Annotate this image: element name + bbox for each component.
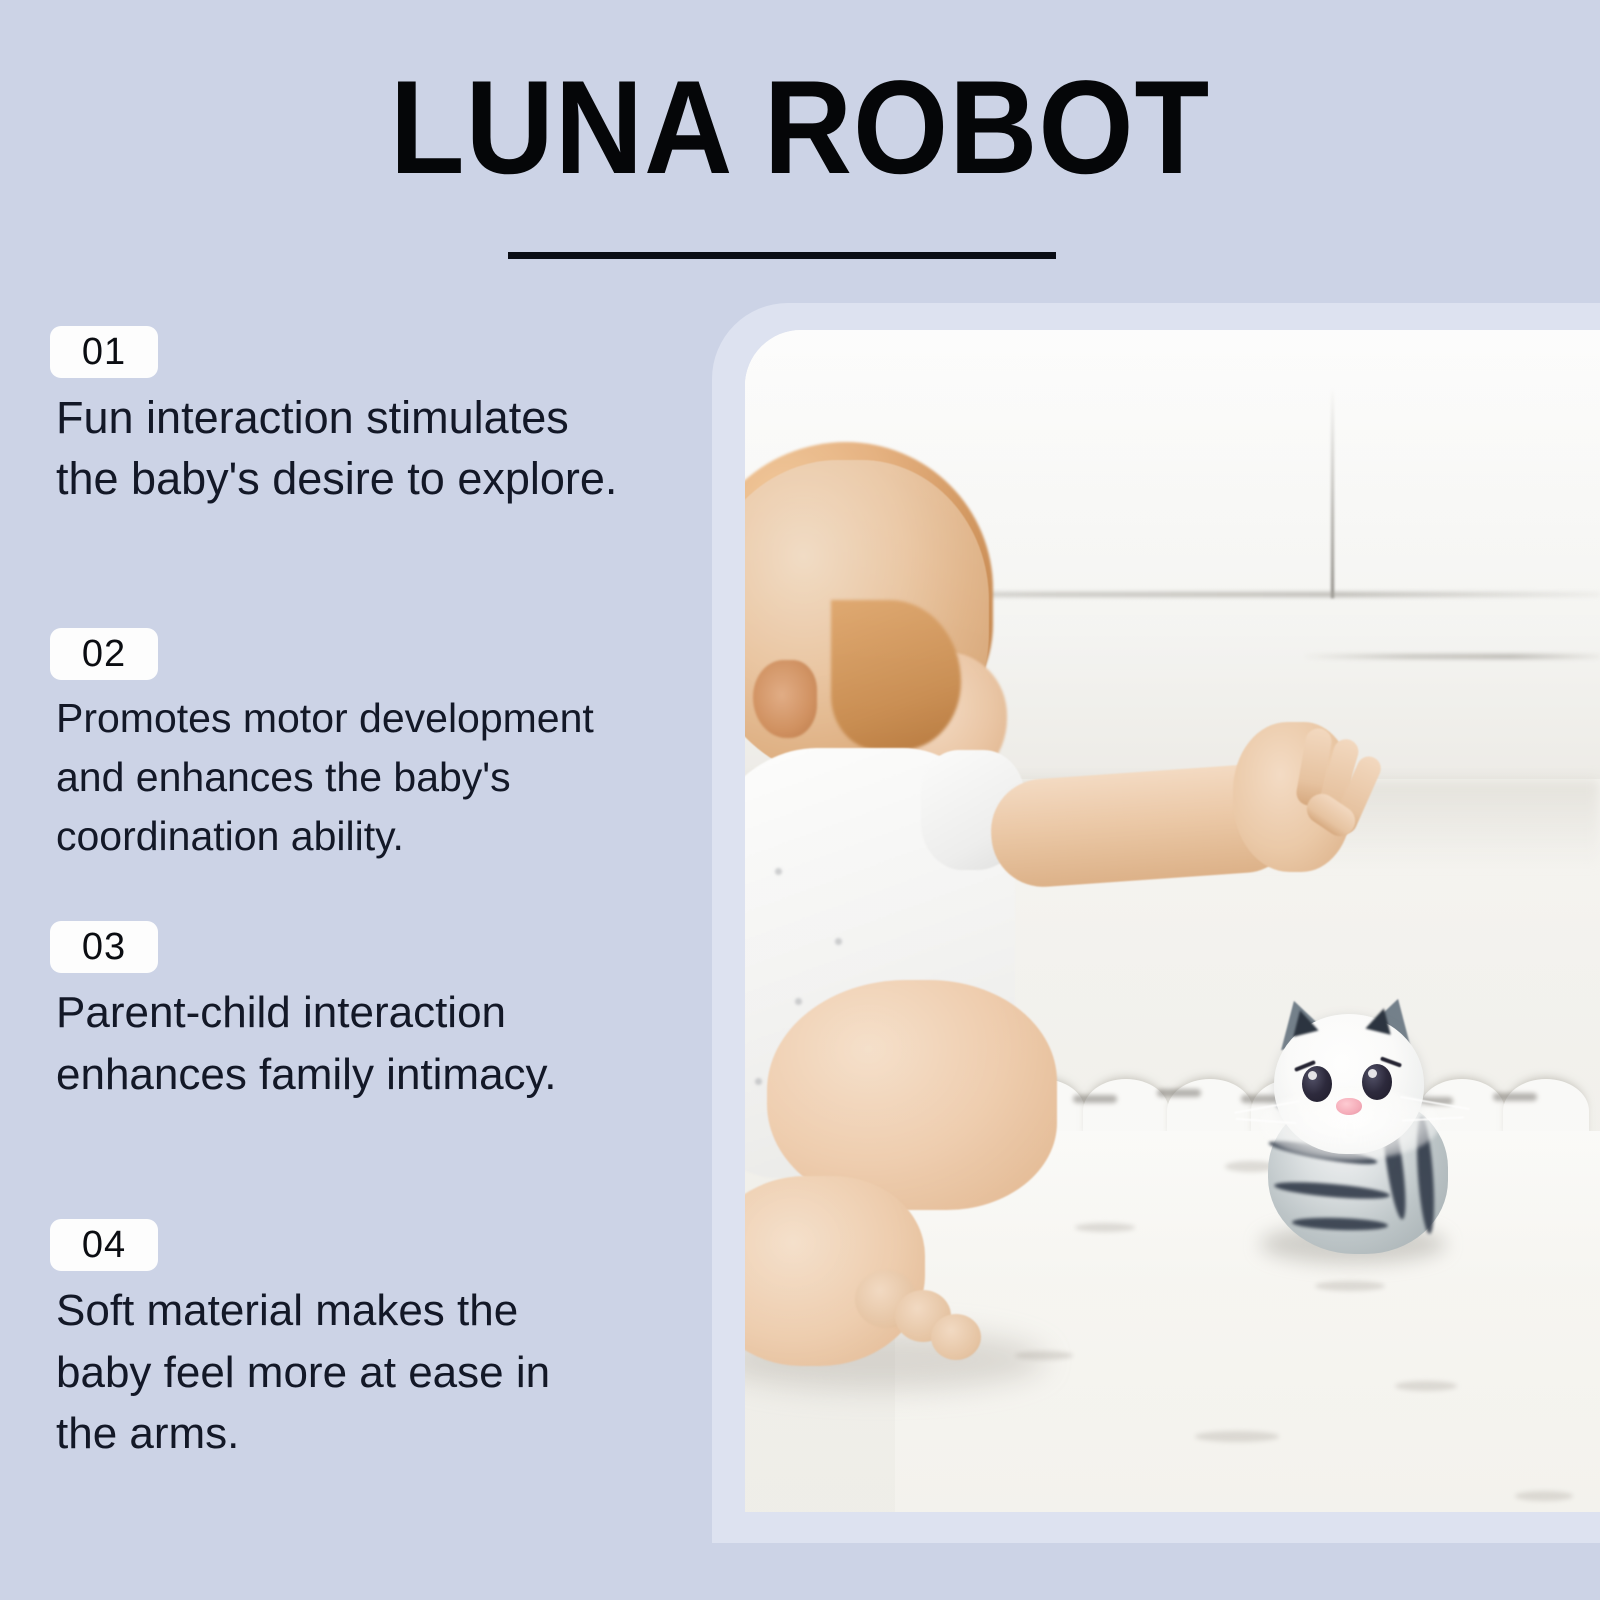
feature-description-01: Fun interaction stimulates the baby's de… [56, 387, 617, 509]
cat-eye-right [1362, 1064, 1392, 1100]
feature-number-badge-02: 02 [50, 628, 158, 680]
feature-item-04: 04 Soft material makes the baby feel mor… [50, 1219, 550, 1465]
feature-description-04: Soft material makes the baby feel more a… [56, 1280, 550, 1465]
feature-item-01: 01 Fun interaction stimulates the baby's… [50, 326, 617, 509]
feature-item-02: 02 Promotes motor development and enhanc… [50, 628, 594, 866]
cat-nose [1336, 1098, 1362, 1115]
feature-number-badge-01: 01 [50, 326, 158, 378]
baby-ear [753, 660, 817, 738]
photo-scene [745, 330, 1600, 1512]
title-block: LUNA ROBOT [0, 62, 1600, 195]
feature-description-02: Promotes motor development and enhances … [56, 689, 594, 866]
robot-cat-toy [1250, 1002, 1460, 1264]
title-divider [508, 252, 1056, 259]
cat-eye-highlight [1308, 1071, 1317, 1080]
product-photo-frame [712, 303, 1600, 1543]
cat-eye-highlight [1368, 1069, 1377, 1078]
page-title: LUNA ROBOT [64, 62, 1536, 195]
feature-description-03: Parent-child interaction enhances family… [56, 982, 557, 1105]
product-photo [745, 330, 1600, 1512]
feature-number-badge-03: 03 [50, 921, 158, 973]
feature-item-03: 03 Parent-child interaction enhances fam… [50, 921, 557, 1105]
product-feature-poster: LUNA ROBOT 01 Fun interaction stimulates… [0, 0, 1600, 1600]
baby [745, 330, 1600, 1512]
feature-number-badge-04: 04 [50, 1219, 158, 1271]
cat-eye-left [1302, 1066, 1332, 1102]
